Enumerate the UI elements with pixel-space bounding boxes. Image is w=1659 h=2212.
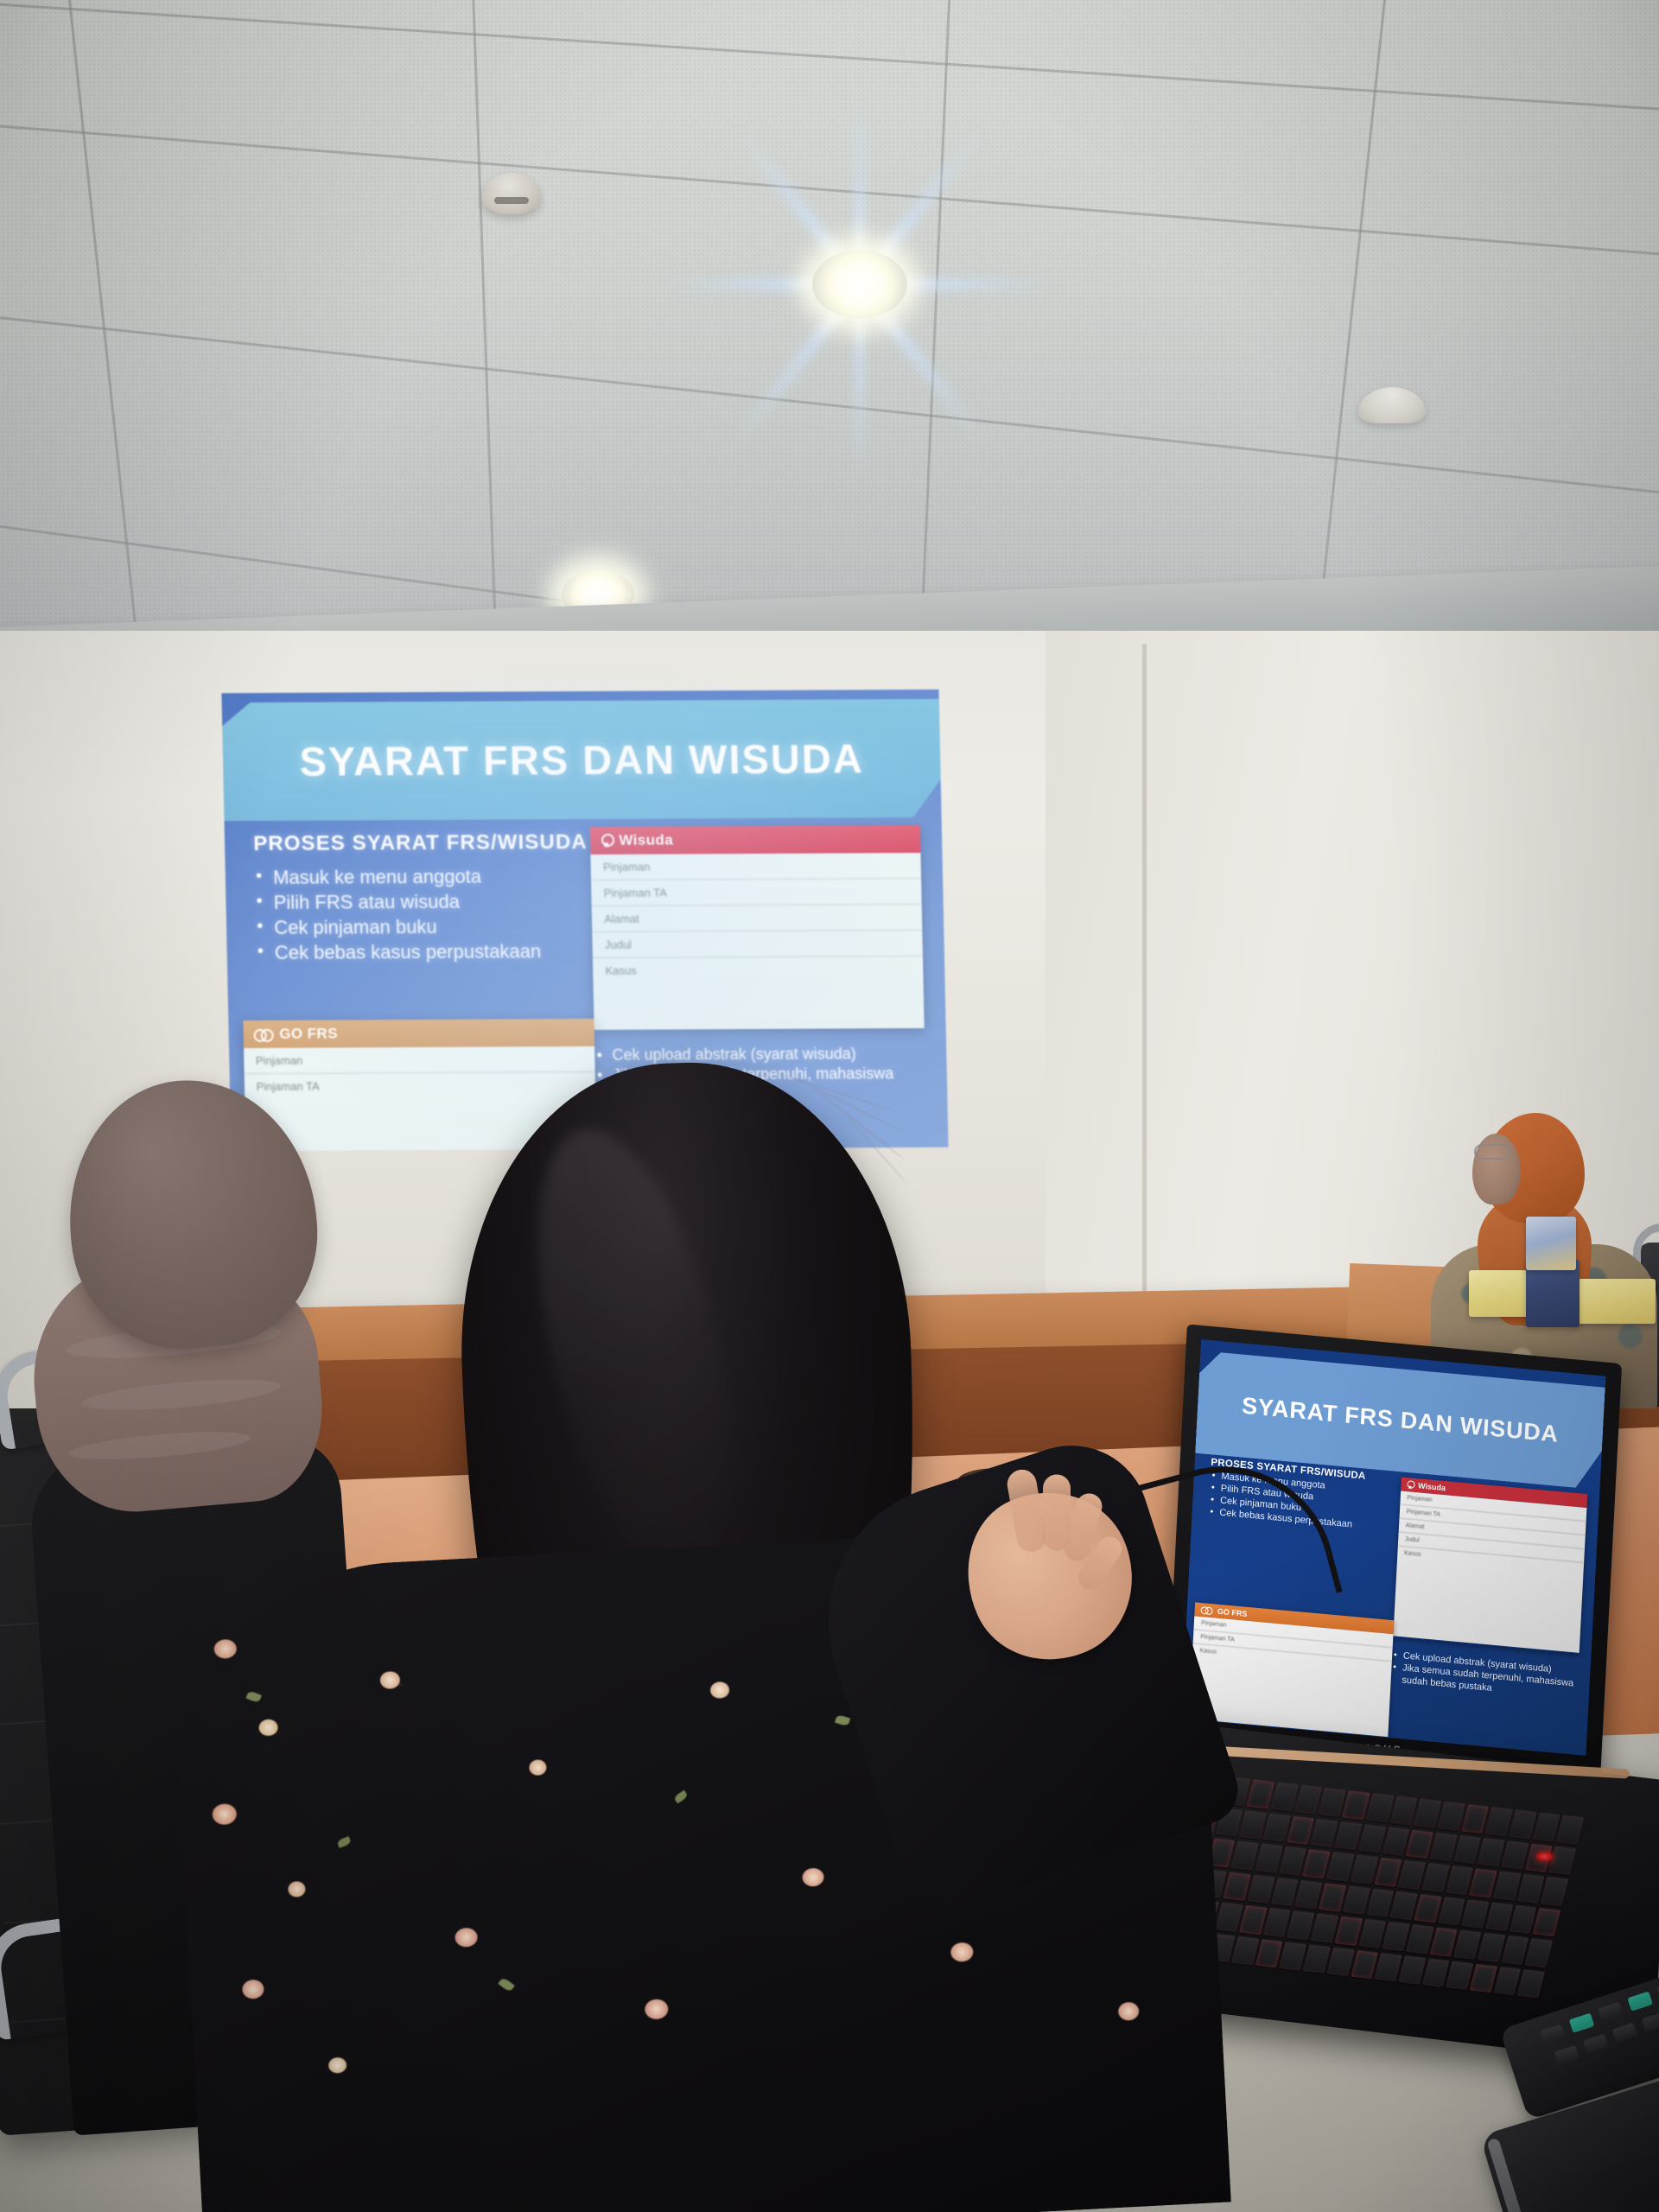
- field-row: Kasus: [593, 957, 923, 983]
- projected-slide: SYARAT FRS DAN WISUDA PROSES SYARAT FRS/…: [221, 690, 948, 1151]
- wall-seam: [1142, 644, 1147, 1300]
- slide-bullet: Pilih FRS atau wisuda: [273, 888, 599, 915]
- badge-icon: [1407, 1480, 1414, 1490]
- slide-bullet-list: Masuk ke menu anggota Pilih FRS atau wis…: [254, 863, 601, 965]
- tissue-box: [1526, 1217, 1576, 1270]
- slide-bullet: Masuk ke menu anggota: [273, 863, 599, 890]
- glasses-icon: [1474, 1144, 1510, 1160]
- field-row: Pinjaman: [591, 853, 921, 880]
- ceiling-downlight-icon: [812, 251, 907, 318]
- tissue-box: [1573, 1279, 1656, 1324]
- projection-screen: SYARAT FRS DAN WISUDA PROSES SYARAT FRS/…: [221, 690, 948, 1151]
- field-row: Pinjaman: [244, 1046, 595, 1074]
- power-led-icon: [1536, 1852, 1554, 1862]
- go-frs-card-title: GO FRS: [279, 1026, 338, 1043]
- field-row: Alamat: [592, 905, 922, 932]
- meeting-room-scene: SYARAT FRS DAN WISUDA PROSES SYARAT FRS/…: [0, 0, 1659, 2212]
- link-icon: [253, 1029, 272, 1039]
- slide-bullet: Cek bebas kasus perpustakaan: [275, 938, 601, 965]
- field-row: Judul: [593, 931, 923, 958]
- slide-left-panel: PROSES SYARAT FRS/WISUDA Masuk ke menu a…: [253, 830, 601, 965]
- laptop-wisuda-card: Wisuda Pinjaman Pinjaman TA Alamat Judul…: [1393, 1478, 1587, 1654]
- slide-banner: SYARAT FRS DAN WISUDA: [222, 698, 942, 821]
- go-frs-card-header: GO FRS: [243, 1019, 594, 1048]
- laptop-right-bullet-list: Cek upload abstrak (syarat wisuda) Jika …: [1390, 1648, 1582, 1704]
- ceiling: [0, 0, 1659, 657]
- laptop-wisuda-card-body: Pinjaman Pinjaman TA Alamat Judul Kasus: [1393, 1491, 1586, 1653]
- laptop-slide-title: SYARAT FRS DAN WISUDA: [1241, 1393, 1559, 1448]
- laptop[interactable]: SYARAT FRS DAN WISUDA PROSES SYARAT FRS/…: [1175, 1344, 1642, 2095]
- wisuda-card: Wisuda Pinjaman Pinjaman TA Alamat Judul…: [590, 825, 925, 1028]
- wisuda-card-title: Wisuda: [619, 832, 673, 849]
- wisuda-card-header: Wisuda: [590, 825, 921, 855]
- laptop-wisuda-card-title: Wisuda: [1418, 1481, 1446, 1492]
- field-row: Pinjaman TA: [244, 1072, 595, 1099]
- slide-title: SYARAT FRS DAN WISUDA: [299, 734, 864, 785]
- badge-icon: [601, 834, 612, 848]
- slide-bullet: Cek pinjaman buku: [274, 913, 600, 940]
- laptop-go-frs-card-body: Pinjaman Pinjaman TA Kasus: [1189, 1617, 1393, 1737]
- field-row: Pinjaman TA: [591, 879, 921, 906]
- slide-right-bullet: Cek upload abstrak (syarat wisuda): [612, 1043, 932, 1065]
- wisuda-card-body: Pinjaman Pinjaman TA Alamat Judul Kasus: [591, 853, 925, 1029]
- slide-section-heading: PROSES SYARAT FRS/WISUDA: [253, 830, 598, 856]
